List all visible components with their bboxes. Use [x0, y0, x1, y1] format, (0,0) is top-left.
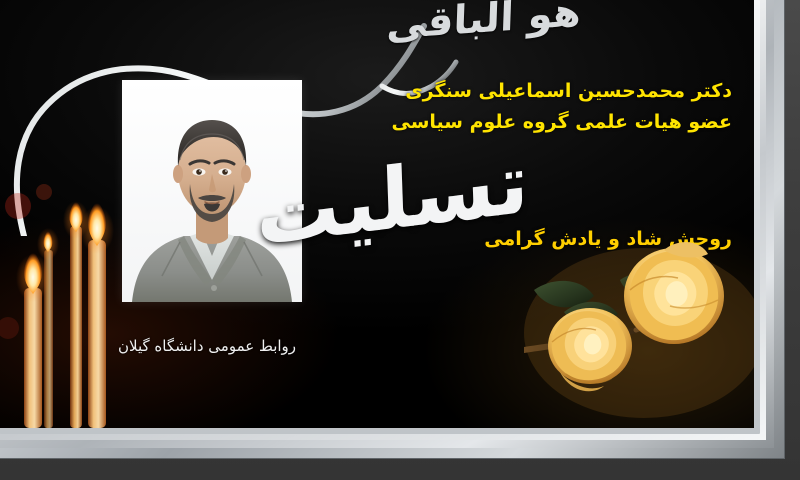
calligraphy-top-phrase: هو الباقی [340, 0, 600, 62]
footer-credit: روابط عمومی دانشگاه گیلان [118, 337, 296, 355]
deceased-role: عضو هیات علمی گروه علوم سیاسی [302, 107, 732, 138]
candles-icon [0, 178, 132, 428]
roses-icon [524, 238, 754, 428]
deceased-text-block: دکتر محمدحسین اسماعیلی سنگری عضو هیات عل… [302, 76, 732, 138]
calligraphy-main-word: تسلیت [300, 150, 530, 270]
calligraphy-hoo-albaqi-text: هو الباقی [385, 0, 581, 49]
artwork-canvas: هو الباقی [0, 0, 754, 428]
deceased-name: دکتر محمدحسین اسماعیلی سنگری [302, 76, 732, 107]
portrait-photo [122, 80, 302, 302]
portrait-illustration [122, 80, 302, 302]
tribute-line: روحش شاد و یادش گرامی [302, 228, 732, 250]
memorial-banner: هو الباقی [0, 0, 800, 480]
